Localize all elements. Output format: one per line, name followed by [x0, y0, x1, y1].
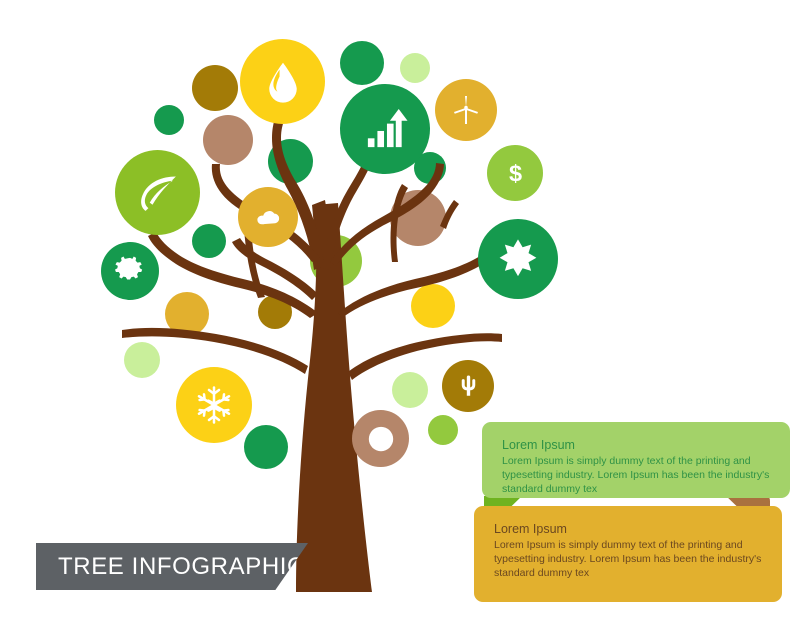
node-globe[interactable] — [352, 410, 409, 467]
branch-right-upper — [330, 163, 444, 266]
callout-amber-body: Lorem Ipsum is simply dummy text of the … — [494, 538, 764, 581]
node-cloud[interactable] — [238, 187, 298, 247]
cloud-icon — [238, 187, 298, 247]
wind-turbine-icon — [435, 79, 497, 141]
leaf-icon — [115, 150, 200, 235]
dollar-icon: $ — [487, 145, 543, 201]
node-leaf[interactable] — [115, 150, 200, 235]
node-cactus[interactable] — [442, 360, 494, 412]
branch-twig-right-1 — [440, 200, 459, 229]
node-water-drop[interactable] — [240, 39, 325, 124]
branch-right-thin — [391, 184, 409, 262]
node-growth-chart[interactable] — [340, 84, 430, 174]
page-title: TREE INFOGRAPHIC — [36, 553, 305, 581]
snowflake-icon — [176, 367, 252, 443]
tree-infographic: $ Lorem Ipsum Lorem Ipsum is simply dumm… — [0, 0, 800, 623]
sun-icon — [478, 219, 558, 299]
globe-icon — [352, 410, 409, 467]
node-wind-turbine[interactable] — [435, 79, 497, 141]
callout-card-green[interactable]: Lorem Ipsum Lorem Ipsum is simply dummy … — [482, 422, 790, 498]
cactus-icon — [442, 360, 494, 412]
node-gear[interactable] — [101, 242, 159, 300]
callout-card-amber[interactable]: Lorem Ipsum Lorem Ipsum is simply dummy … — [474, 506, 782, 602]
node-sun[interactable] — [478, 219, 558, 299]
callout-amber-title: Lorem Ipsum — [494, 522, 764, 536]
svg-text:$: $ — [508, 160, 521, 186]
callout-green-title: Lorem Ipsum — [502, 438, 772, 452]
node-snowflake[interactable] — [176, 367, 252, 443]
gear-icon — [101, 242, 159, 300]
title-banner: TREE INFOGRAPHIC — [36, 543, 308, 590]
node-dollar[interactable]: $ — [487, 145, 543, 201]
water-drop-icon — [240, 39, 325, 124]
callout-green-body: Lorem Ipsum is simply dummy text of the … — [502, 454, 772, 497]
growth-chart-icon — [340, 84, 430, 174]
